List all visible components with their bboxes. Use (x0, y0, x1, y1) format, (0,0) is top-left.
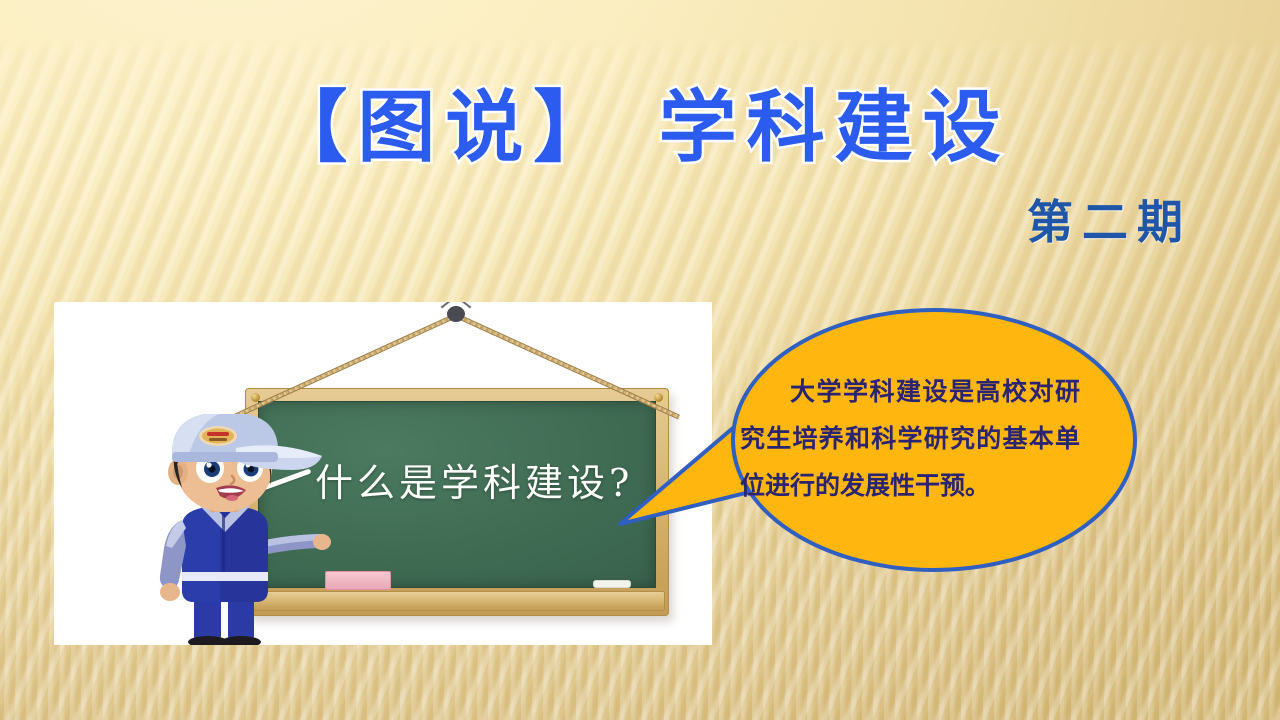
cartoon-boy-teacher (116, 414, 331, 645)
blackboard-screw-left-icon (251, 393, 260, 402)
speech-bubble: 大学学科建设是高校对研究生培养和科学研究的基本单位进行的发展性干预。 (614, 300, 1144, 580)
blackboard-chalk (593, 580, 631, 588)
blackboard-eraser (325, 571, 391, 590)
page-subtitle: 第二期 (0, 186, 1280, 252)
speech-bubble-text: 大学学科建设是高校对研究生培养和科学研究的基本单位进行的发展性干预。 (740, 368, 1080, 509)
blackboard-text: 什么是学科建设? (315, 452, 645, 507)
slide-canvas: 【图说】 学科建设 第二期 什么是学科建设? (0, 0, 1280, 720)
page-title: 【图说】 学科建设 (0, 88, 1280, 170)
wall-nail-icon (447, 306, 465, 322)
